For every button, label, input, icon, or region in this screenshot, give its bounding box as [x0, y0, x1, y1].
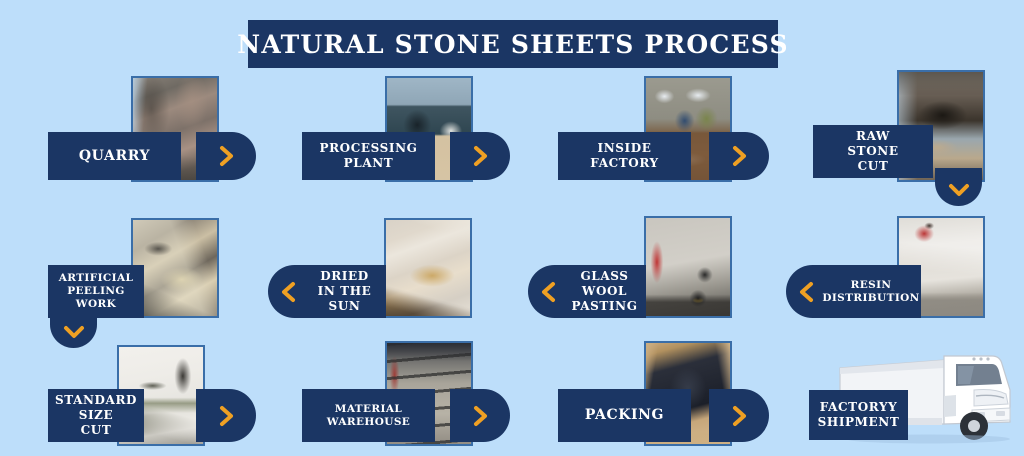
page-title: NATURAL STONE SHEETS PROCESS: [237, 30, 788, 59]
step-label-text: FACTORYY SHIPMENT: [818, 400, 900, 430]
step-label-text: MATERIAL WAREHOUSE: [327, 403, 410, 429]
step-label-raw-stone-cut: RAW STONE CUT: [813, 125, 933, 178]
step-label-standard-size-cut: STANDARD SIZE CUT: [48, 389, 144, 442]
chevron-left-icon: [281, 281, 297, 303]
chevron-left-icon: [541, 281, 557, 303]
step-connector-quarry: [196, 132, 256, 180]
chevron-right-icon: [472, 145, 488, 167]
step-label-text: INSIDE FACTORY: [590, 141, 658, 171]
step-label-text: ARTIFICIAL PEELING WORK: [59, 272, 134, 311]
step-label-dried-in-the-sun: DRIED IN THE SUN: [303, 265, 386, 318]
chevron-right-icon: [731, 145, 747, 167]
step-label-factory-shipment: FACTORYY SHIPMENT: [809, 390, 908, 440]
step-label-quarry: QUARRY: [48, 132, 181, 180]
step-label-text: GLASS WOOL PASTING: [571, 269, 637, 314]
chevron-down-icon: [63, 324, 85, 340]
step-connector-raw-stone-cut: [935, 168, 982, 206]
step-label-material-warehouse: MATERIAL WAREHOUSE: [302, 389, 435, 442]
step-label-text: RAW STONE CUT: [847, 129, 898, 174]
step-connector-inside-factory: [709, 132, 769, 180]
step-label-processing-plant: PROCESSING PLANT: [302, 132, 435, 180]
chevron-right-icon: [218, 145, 234, 167]
page-title-bar: NATURAL STONE SHEETS PROCESS: [248, 20, 778, 68]
infographic-canvas: NATURAL STONE SHEETS PROCESS QUARRY PROC…: [0, 0, 1024, 456]
step-photo-dried-in-the-sun: [384, 218, 472, 318]
step-label-text: RESIN DISTRIBUTION: [822, 279, 919, 305]
step-label-text: DRIED IN THE SUN: [318, 269, 372, 314]
step-label-packing: PACKING: [558, 389, 691, 442]
step-connector-standard-size-cut: [196, 389, 256, 442]
step-photo-artificial-peeling-work: [131, 218, 219, 318]
step-label-resin-distribution: RESIN DISTRIBUTION: [821, 265, 921, 318]
step-connector-processing-plant: [450, 132, 510, 180]
step-photo-glass-wool-pasting: [644, 216, 732, 318]
step-label-text: PACKING: [585, 407, 664, 424]
chevron-down-icon: [948, 182, 970, 198]
chevron-right-icon: [731, 405, 747, 427]
step-connector-material-warehouse: [450, 389, 510, 442]
step-label-text: QUARRY: [79, 148, 150, 165]
chevron-left-icon: [799, 281, 815, 303]
step-label-glass-wool-pasting: GLASS WOOL PASTING: [563, 265, 646, 318]
step-connector-packing: [709, 389, 769, 442]
step-connector-artificial-peeling-work: [50, 310, 97, 348]
chevron-right-icon: [472, 405, 488, 427]
step-label-text: STANDARD SIZE CUT: [55, 393, 137, 438]
chevron-right-icon: [218, 405, 234, 427]
step-label-inside-factory: INSIDE FACTORY: [558, 132, 691, 180]
step-label-text: PROCESSING PLANT: [319, 141, 417, 171]
